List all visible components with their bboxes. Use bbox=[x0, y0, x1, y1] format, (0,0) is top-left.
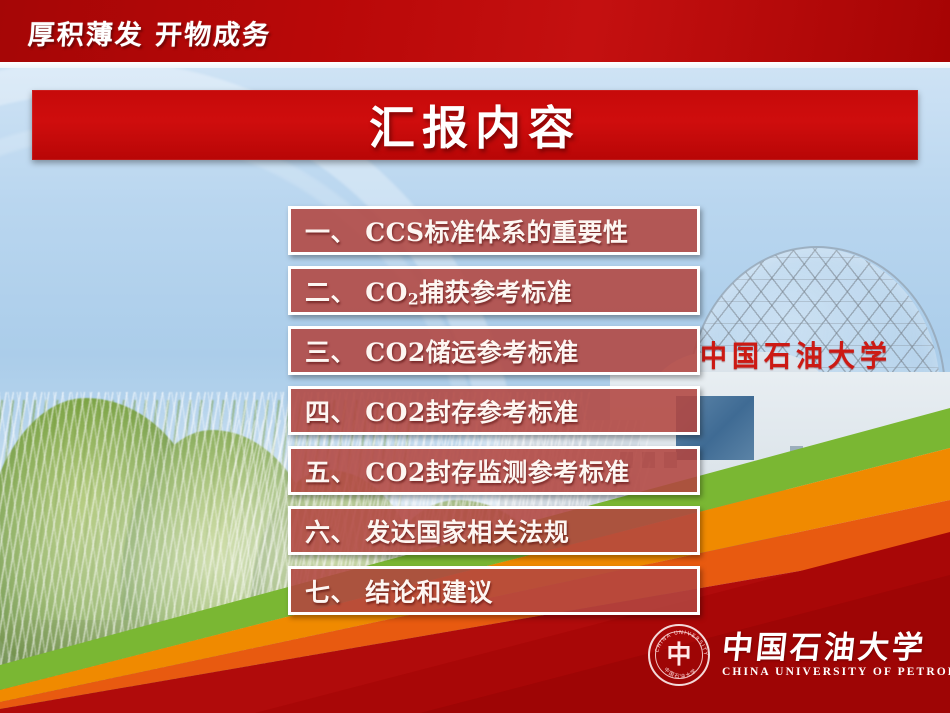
list-item-label: 七、 结论和建议 bbox=[291, 573, 493, 609]
slide-title-bar: 汇报内容 bbox=[32, 90, 918, 160]
roof-sign-text: 中国石油大学 bbox=[700, 332, 892, 374]
university-name-en: CHINA UNIVERSITY OF PETROLEUM bbox=[722, 666, 950, 678]
list-item[interactable]: 一、 CCS标准体系的重要性 bbox=[288, 206, 700, 255]
list-item[interactable]: 二、 CO2捕获参考标准 bbox=[288, 266, 700, 315]
building-glass-panel-lower bbox=[700, 486, 786, 570]
list-item-label: 三、 CO2储运参考标准 bbox=[291, 333, 579, 369]
presentation-slide: 中国石油大学 厚积薄发 开物成务 汇报内容 一、 CCS标准体系的重要性 bbox=[0, 0, 950, 713]
contents-list: 一、 CCS标准体系的重要性 二、 CO2捕获参考标准 三、 CO2储运参考标准… bbox=[288, 206, 700, 626]
building-window-row bbox=[790, 446, 913, 462]
list-item-label: 一、 CCS标准体系的重要性 bbox=[291, 213, 629, 249]
list-item[interactable]: 五、 CO2封存监测参考标准 bbox=[288, 446, 700, 495]
list-item[interactable]: 三、 CO2储运参考标准 bbox=[288, 326, 700, 375]
page-title: 汇报内容 bbox=[369, 92, 581, 158]
list-item[interactable]: 六、 发达国家相关法规 bbox=[288, 506, 700, 555]
list-item-label: 六、 发达国家相关法规 bbox=[291, 513, 569, 549]
list-item[interactable]: 四、 CO2封存参考标准 bbox=[288, 386, 700, 435]
university-logo: CHINA UNIVERSITY OF PETROLEUM 中国石油大学 中 中… bbox=[648, 624, 950, 686]
header-motto-text: 厚积薄发 开物成务 bbox=[27, 13, 272, 52]
seal-center-glyph: 中 bbox=[650, 642, 708, 667]
header-bar: 厚积薄发 开物成务 bbox=[0, 0, 950, 64]
list-item-label: 五、 CO2封存监测参考标准 bbox=[291, 453, 630, 489]
header-separator bbox=[0, 62, 950, 68]
list-item-label: 二、 CO2捕获参考标准 bbox=[291, 273, 572, 309]
list-item[interactable]: 七、 结论和建议 bbox=[288, 566, 700, 615]
list-item-label: 四、 CO2封存参考标准 bbox=[291, 393, 579, 429]
university-name-cn: 中国石油大学 bbox=[720, 632, 950, 665]
university-seal-icon: CHINA UNIVERSITY OF PETROLEUM 中国石油大学 中 bbox=[648, 624, 710, 686]
building-window-row bbox=[790, 492, 913, 508]
